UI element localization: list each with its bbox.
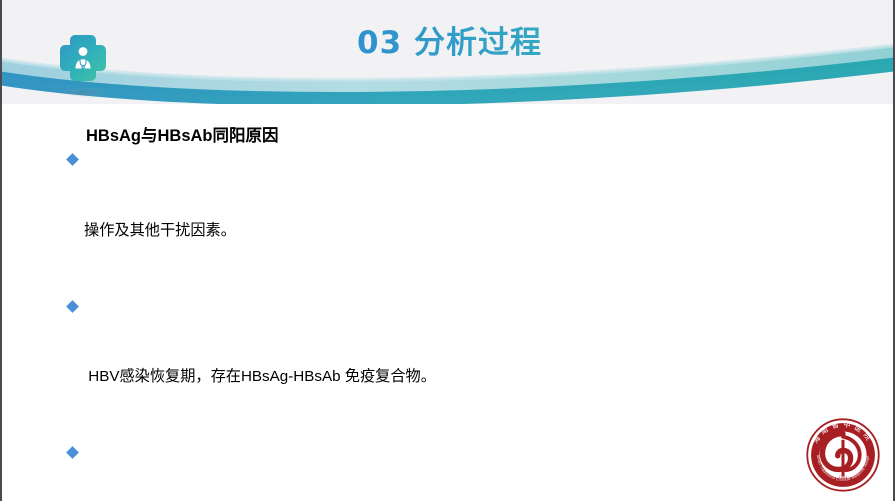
diamond-bullet-icon	[66, 153, 79, 166]
list-item-text: 操作及其他干扰因素。	[84, 219, 880, 243]
svg-text:1954: 1954	[838, 475, 848, 480]
slide-content: HBsAg与HBsAb同阳原因 操作及其他干扰因素。 HBV感染恢复期，存在HB…	[2, 104, 895, 501]
icon-shadow	[62, 88, 106, 97]
diamond-bullet-icon	[66, 300, 79, 313]
content-heading: HBsAg与HBsAb同阳原因	[86, 122, 279, 146]
presentation-slide: 03 分析过程 HBsAg与HBsAb同阳原因 操作及其他干扰因素。 HBV感染…	[0, 0, 895, 501]
list-item-text: HBV感染恢复期，存在HBsAg-HBsAb 免疫复合物。	[84, 365, 880, 389]
list-item: 操作及其他干扰因素。	[68, 148, 880, 289]
list-item: HBV阳性的母亲所生婴儿在出生时接种疫苗，并接受乙肝免疫球蛋白治疗， HBsAg…	[68, 441, 880, 501]
diamond-bullet-icon	[66, 446, 79, 459]
slide-title: 03 分析过程	[2, 17, 895, 62]
slide-header: 03 分析过程	[2, 0, 895, 104]
list-item: HBV感染恢复期，存在HBsAg-HBsAb 免疫复合物。	[68, 295, 880, 436]
hospital-seal-logo: 海南省中医院 Hainan Traditional Chinese Medici…	[805, 417, 881, 493]
bullet-list: 操作及其他干扰因素。 HBV感染恢复期，存在HBsAg-HBsAb 免疫复合物。…	[68, 148, 880, 501]
